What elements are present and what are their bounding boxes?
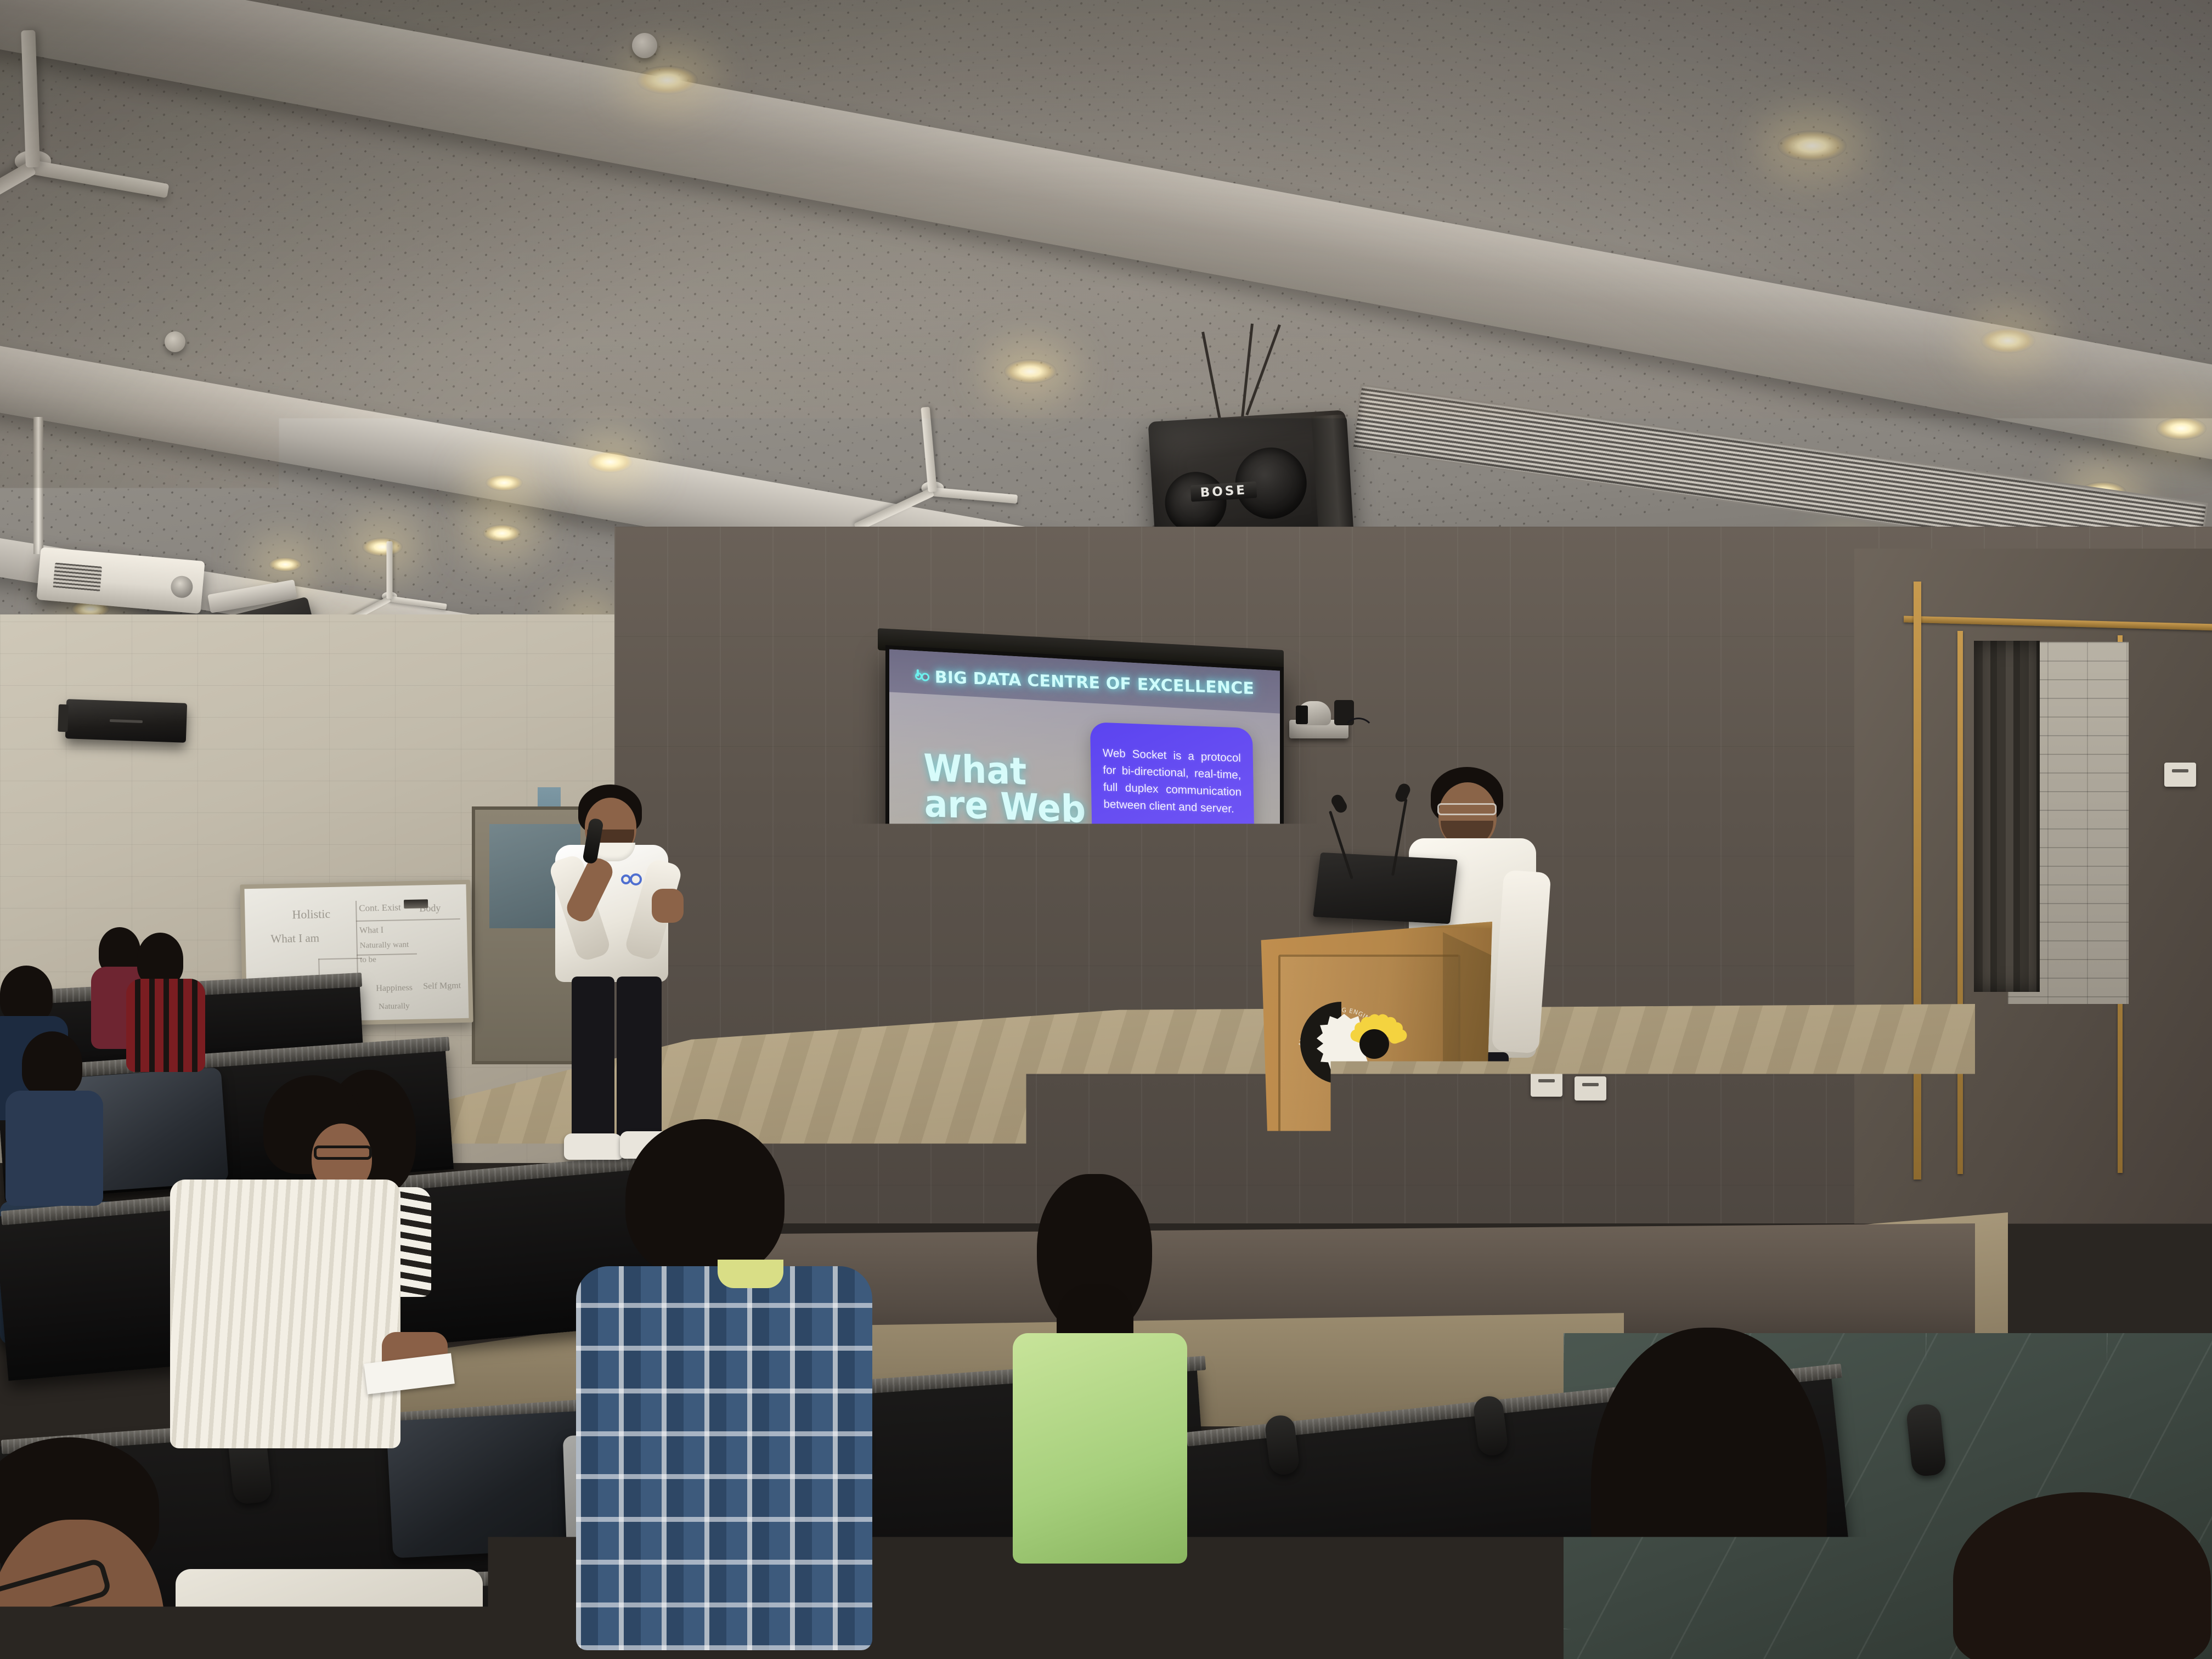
hair	[0, 966, 53, 1023]
websocket-handshake-diagram: Client Request Hand Shake Web Socket Ser…	[922, 883, 1065, 968]
eyeglasses-icon	[1437, 803, 1497, 815]
projection-screen: BIG DATA CENTRE OF EXCELLENCE What are W…	[885, 645, 1284, 1051]
whiteboard-text: What I am	[270, 931, 319, 946]
speaker-wall-mount	[58, 704, 69, 732]
camera-cable	[1342, 718, 1375, 751]
downlight	[269, 557, 302, 572]
whiteboard-stroke	[356, 918, 460, 922]
diagram-arrow-label-2: Hand Shake	[973, 910, 997, 916]
downlight	[486, 475, 523, 491]
whiteboard-text: Self Mgmt	[423, 981, 461, 991]
sprinkler-head	[632, 33, 657, 58]
slide-body-box: Web Socket is a protocol for bi-directio…	[1090, 722, 1257, 986]
hair	[137, 933, 183, 985]
diagram-arrow-2	[951, 921, 1022, 924]
projector-vent-grill	[53, 562, 102, 591]
torso	[176, 1569, 483, 1659]
eyeglasses-icon	[314, 1145, 372, 1160]
big-data-infinity-icon	[915, 669, 930, 685]
projector-lens	[170, 575, 194, 599]
akgec-logo: AJAY KUMAR GARG ENGINEERING COLLEGE AKGE…	[1296, 998, 1406, 1097]
diagram-arrow-label-1: Request	[964, 896, 981, 902]
whiteboard-stroke	[318, 958, 362, 960]
slide-heading-line-1: What are Web	[923, 751, 1093, 828]
whiteboard-text: to be	[360, 955, 376, 965]
slide-heading-line-2: Sockets?	[924, 822, 1093, 864]
torso-green-tee	[1013, 1333, 1187, 1564]
lectern: AJAY KUMAR GARG ENGINEERING COLLEGE AKGE…	[1256, 922, 1492, 1229]
torso	[5, 1091, 103, 1206]
diagram-client-node: Client	[932, 895, 947, 951]
downlight	[362, 538, 403, 556]
podium-laptop[interactable]	[1313, 853, 1458, 924]
sprinkler-head	[165, 331, 185, 352]
slide-paragraph-1: Web Socket is a protocol for bi-directio…	[1103, 744, 1242, 818]
torso-plaid-shirt	[576, 1266, 872, 1650]
speaker-driver-cone	[1163, 470, 1228, 535]
torso-pinstripe-shirt	[170, 1180, 400, 1448]
hand	[652, 889, 684, 923]
slide-paragraph-2: Web Sockets are event driven and bidirec…	[1104, 835, 1243, 874]
lecture-hall-photo: BOSE 802 Holistic What I am Cont. Ex	[0, 0, 2212, 1659]
collar	[718, 1260, 783, 1288]
whiteboard-text: Happiness	[376, 983, 413, 994]
whiteboard-marker[interactable]	[404, 899, 428, 909]
hair	[22, 1031, 82, 1096]
downlight	[636, 66, 698, 94]
speaker-brand-strip	[110, 719, 143, 723]
projector-mount-pole	[33, 417, 43, 554]
downlight	[587, 451, 633, 473]
akgec-wordmark: AKGEC	[1353, 1076, 1420, 1096]
shirt-logo	[621, 872, 645, 888]
whiteboard-text: Naturally	[379, 1002, 410, 1012]
hair	[1953, 1492, 2211, 1659]
leg-left	[572, 977, 614, 1141]
diagram-arrow-1	[950, 907, 1020, 910]
torso-plaid	[126, 979, 205, 1072]
sneaker-left	[564, 1133, 623, 1160]
whiteboard-text: Holistic	[292, 907, 330, 922]
downlight	[1004, 359, 1057, 383]
whiteboard-stroke	[357, 953, 417, 956]
whiteboard-text: Naturally want	[360, 940, 409, 951]
diagram-server-node: Server	[1015, 906, 1059, 948]
wall-mounted-speaker	[65, 699, 187, 743]
hair	[625, 1119, 785, 1278]
diagram-client-label: Client	[932, 918, 947, 923]
doorway-curtain	[1974, 641, 2040, 992]
logo-sunflower	[1348, 1015, 1406, 1072]
ptz-camera	[1289, 696, 1361, 746]
diagram-arrow-label-3: Web Socket	[983, 926, 1006, 932]
diagram-arrow-3	[951, 936, 1021, 939]
whiteboard-text: What I	[359, 926, 383, 936]
whiteboard-text: Cont. Exist	[359, 902, 401, 914]
logo-sun-core	[1359, 1029, 1389, 1059]
slide-heading: What are Web Sockets?	[923, 751, 1093, 864]
downlight	[483, 524, 521, 542]
leg-right	[617, 977, 662, 1142]
downlight	[1778, 131, 1847, 161]
wall-socket	[2164, 763, 2196, 787]
tee-print-text	[1031, 1377, 1174, 1417]
downlight	[2156, 417, 2207, 440]
downlight	[1980, 328, 2035, 353]
